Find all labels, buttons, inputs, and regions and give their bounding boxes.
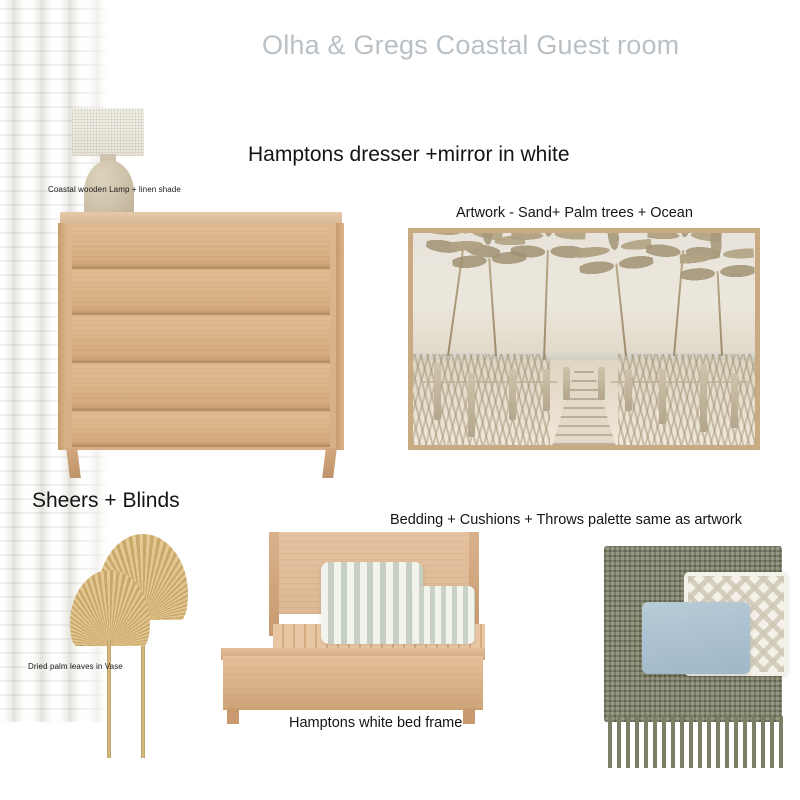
bed-leg: [463, 708, 475, 724]
dresser-label: Hamptons dresser +mirror in white: [248, 143, 570, 167]
artwork-palm-fronds: [510, 233, 586, 265]
artwork-fence-post: [468, 373, 475, 437]
oak-dresser: [58, 212, 344, 480]
artwork-palm-fronds: [575, 233, 654, 281]
artwork-label: Artwork - Sand+ Palm trees + Ocean: [456, 205, 693, 221]
page-title: Olha & Gregs Coastal Guest room: [262, 30, 679, 61]
dresser-drawer: [72, 413, 330, 447]
headboard-post: [269, 532, 279, 636]
throw-fringe: [608, 716, 784, 768]
artwork-fence-post: [659, 369, 666, 424]
artwork-fence-post: [543, 369, 550, 411]
dresser-side-left: [58, 223, 66, 450]
artwork-palm-fronds: [678, 233, 755, 287]
dried-palm-leaves: [62, 528, 202, 760]
artwork-fence-post: [625, 369, 632, 411]
bed-frame-label: Hamptons white bed frame: [289, 715, 462, 731]
artwork-fence-post: [598, 367, 605, 401]
artwork-fence-post: [434, 364, 441, 419]
dresser-drawer: [72, 365, 330, 411]
dresser-body: [64, 223, 338, 450]
dresser-leg: [66, 448, 81, 478]
artwork-fence-post: [563, 367, 570, 401]
textiles-stack: [600, 540, 796, 780]
framed-beach-artwork: [408, 228, 760, 450]
dresser-leg: [322, 448, 337, 478]
dresser-drawer: [72, 271, 330, 315]
timber-bed-frame: [213, 528, 485, 718]
table-lamp: [68, 108, 148, 220]
bedding-label: Bedding + Cushions + Throws palette same…: [390, 512, 742, 528]
bed-leg: [227, 708, 239, 724]
artwork-fence-post: [509, 369, 516, 420]
palm-leaf-stem: [107, 640, 111, 758]
artwork-fence-post: [700, 364, 707, 432]
mood-board: Olha & Gregs Coastal Guest room Coastal …: [0, 0, 800, 800]
dresser-drawer: [72, 227, 330, 269]
artwork-rope: [611, 381, 748, 383]
striped-cushion-large: [321, 562, 423, 644]
striped-cushion-small: [413, 586, 475, 644]
blue-lumbar-cushion: [642, 602, 750, 674]
lamp-shade: [72, 108, 144, 156]
artwork-image: [413, 233, 755, 445]
lamp-label: Coastal wooden Lamp + linen shade: [48, 185, 181, 194]
sheers-label: Sheers + Blinds: [32, 489, 180, 513]
dresser-side-right: [336, 223, 344, 450]
bed-footboard: [223, 656, 483, 710]
dresser-drawer: [72, 317, 330, 363]
artwork-fence-post: [731, 373, 738, 428]
palm-vase-label: Dried palm leaves in Vase: [28, 662, 123, 671]
